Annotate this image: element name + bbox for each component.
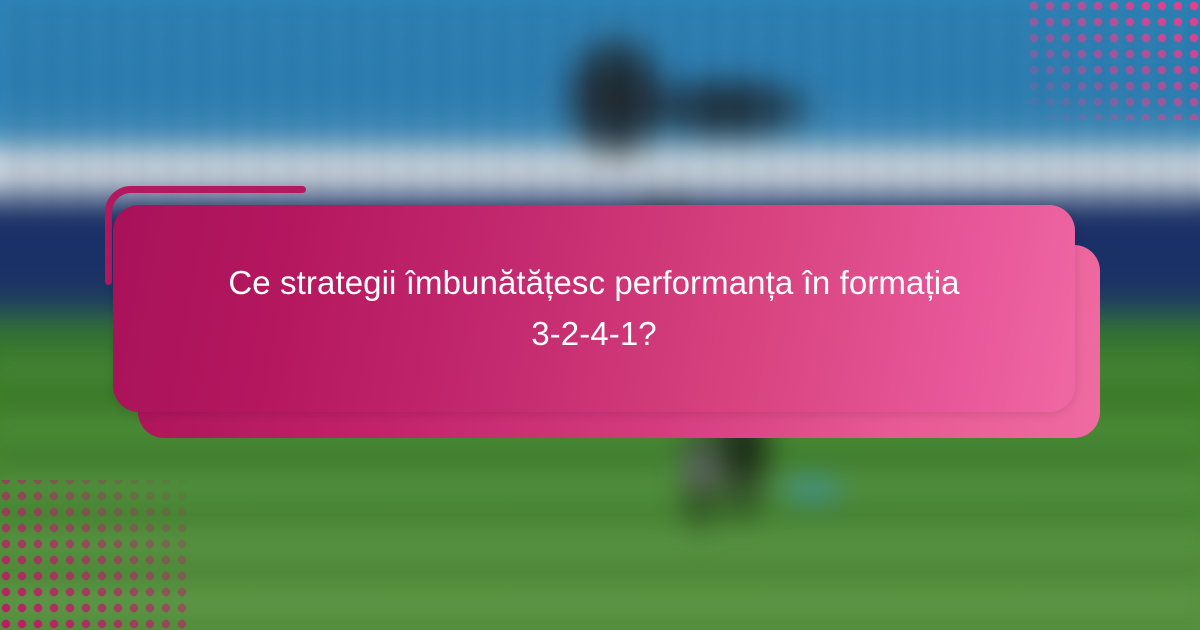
quote-card-group: Ce strategii îmbunătățesc performanța în… xyxy=(0,0,1200,630)
page-title: Ce strategii îmbunătățesc performanța în… xyxy=(200,258,988,358)
card-front-layer: Ce strategii îmbunătățesc performanța în… xyxy=(113,205,1075,412)
screenshot-stage: Ce strategii îmbunătățesc performanța în… xyxy=(0,0,1200,630)
